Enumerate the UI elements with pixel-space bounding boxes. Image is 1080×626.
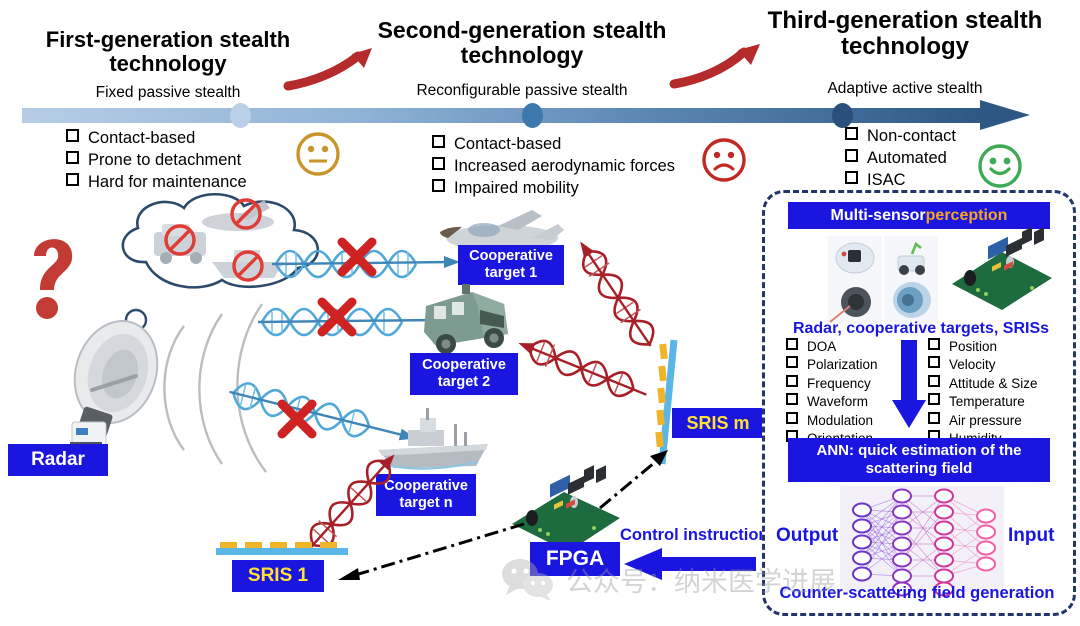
list-item: Contact-based xyxy=(432,134,675,156)
generation-subtitle-3: Adaptive active stealth xyxy=(740,80,1070,98)
checkbox-icon xyxy=(66,173,79,186)
list-item: Contact-based xyxy=(66,128,247,150)
radar-dish-icon xyxy=(50,318,180,458)
timeline-node-1 xyxy=(230,103,251,128)
blocked-cross-1 xyxy=(336,236,378,278)
happy-face-icon xyxy=(976,142,1024,190)
list-item: Polarization xyxy=(786,356,878,374)
list-item: Prone to detachment xyxy=(66,150,247,172)
sad-face-icon xyxy=(700,136,748,184)
checkbox-icon xyxy=(786,412,798,424)
parameter-list-right: Position Velocity Attitude & Size Temper… xyxy=(928,338,1038,449)
generation-title-1: First-generation stealth technology xyxy=(18,28,318,76)
cooperative-target-1-label: Cooperative target 1 xyxy=(458,245,564,285)
checkbox-icon xyxy=(786,393,798,405)
checkbox-icon xyxy=(845,127,858,140)
list-item: Position xyxy=(928,338,1038,356)
list-item: Frequency xyxy=(786,375,878,393)
feature-text: Impaired mobility xyxy=(454,178,579,200)
generation-subtitle-1: Fixed passive stealth xyxy=(18,84,318,102)
progress-arrow-2 xyxy=(672,44,764,88)
generation-title-3: Third-generation stealth technology xyxy=(740,8,1070,60)
timeline-node-2 xyxy=(522,103,543,128)
checkbox-icon xyxy=(928,356,940,368)
list-item: Automated xyxy=(845,148,956,170)
checkbox-icon xyxy=(432,179,445,192)
feature-text: ISAC xyxy=(867,170,906,192)
fpga-to-sris-m-arrow xyxy=(594,448,674,514)
list-item: Impaired mobility xyxy=(432,178,675,200)
feature-list-3: Non-contact Automated ISAC xyxy=(845,126,956,191)
parameter-text: Velocity xyxy=(949,356,996,374)
list-item: Modulation xyxy=(786,412,878,430)
feature-text: Automated xyxy=(867,148,947,170)
ann-title: ANN: quick estimation of the scattering … xyxy=(788,438,1050,482)
list-item: Temperature xyxy=(928,393,1038,411)
multi-sensor-perception-title: Multi-sensor perception xyxy=(788,202,1050,229)
sris-1-surface xyxy=(216,548,348,555)
radar-label: Radar xyxy=(8,444,108,476)
perception-title-main: Multi-sensor xyxy=(831,206,926,225)
sris-patch xyxy=(245,542,262,548)
parameter-text: Position xyxy=(949,338,997,356)
feature-list-1: Contact-based Prone to detachment Hard f… xyxy=(66,128,247,193)
list-item: Attitude & Size xyxy=(928,375,1038,393)
feature-list-2: Contact-based Increased aerodynamic forc… xyxy=(432,134,675,199)
parameter-text: Attitude & Size xyxy=(949,375,1038,393)
checkbox-icon xyxy=(432,157,445,170)
network-input-label: Input xyxy=(1008,525,1054,547)
parameter-text: Polarization xyxy=(807,356,878,374)
checkbox-icon xyxy=(845,149,858,162)
feature-text: Contact-based xyxy=(88,128,195,150)
checkbox-icon xyxy=(786,356,798,368)
perception-title-accent: perception xyxy=(926,206,1008,225)
control-instruction-label: Control instruction xyxy=(620,526,768,545)
generation-title-2: Second-generation stealth technology xyxy=(352,18,692,68)
parameter-text: Frequency xyxy=(807,375,871,393)
question-mark-icon xyxy=(22,228,82,328)
parameter-text: Waveform xyxy=(807,393,868,411)
list-item: Waveform xyxy=(786,393,878,411)
sris-m-label: SRIS m xyxy=(672,408,764,438)
list-item: Air pressure xyxy=(928,412,1038,430)
military-vehicle-icon xyxy=(412,280,522,360)
wechat-icon xyxy=(500,557,556,601)
sris-patch xyxy=(220,542,237,548)
feature-text: Increased aerodynamic forces xyxy=(454,156,675,178)
perception-pcb-icon xyxy=(948,240,1056,316)
sris-1-label: SRIS 1 xyxy=(232,560,324,592)
checkbox-icon xyxy=(786,375,798,387)
list-item: Non-contact xyxy=(845,126,956,148)
checkbox-icon xyxy=(432,135,445,148)
list-item: Velocity xyxy=(928,356,1038,374)
neutral-face-icon xyxy=(294,130,342,178)
checkbox-icon xyxy=(928,412,940,424)
feature-text: Non-contact xyxy=(867,126,956,148)
sris-patch xyxy=(295,542,312,548)
parameter-list-left: DOA Polarization Frequency Waveform Modu… xyxy=(786,338,878,449)
parameter-text: Air pressure xyxy=(949,412,1022,430)
timeline-axis xyxy=(22,104,1030,126)
timeline-node-3 xyxy=(832,103,853,128)
perception-sources-heading: Radar, cooperative targets, SRISs xyxy=(776,320,1066,338)
progress-arrow-1 xyxy=(286,48,378,90)
parameter-text: DOA xyxy=(807,338,836,356)
feature-text: Contact-based xyxy=(454,134,561,156)
flow-down-arrow xyxy=(892,340,926,428)
list-item: DOA xyxy=(786,338,878,356)
blocked-cross-2 xyxy=(316,296,358,338)
feature-text: Prone to detachment xyxy=(88,150,241,172)
list-item: ISAC xyxy=(845,170,956,192)
checkbox-icon xyxy=(66,129,79,142)
network-output-label: Output xyxy=(776,525,838,547)
checkbox-icon xyxy=(66,151,79,164)
cooperative-target-2-label: Cooperative target 2 xyxy=(410,353,518,395)
parameter-text: Temperature xyxy=(949,393,1025,411)
checkbox-icon xyxy=(928,393,940,405)
timeline-arrowhead xyxy=(980,100,1030,130)
watermark-text: 公众号：纳米医学进展 xyxy=(566,560,836,599)
checkbox-icon xyxy=(928,375,940,387)
checkbox-icon xyxy=(786,338,798,350)
blocked-cross-3 xyxy=(276,398,318,440)
generation-subtitle-2: Reconfigurable passive stealth xyxy=(342,82,702,100)
checkbox-icon xyxy=(928,338,940,350)
list-item: Increased aerodynamic forces xyxy=(432,156,675,178)
wechat-watermark: 公众号：纳米医学进展 xyxy=(500,548,920,610)
checkbox-icon xyxy=(845,171,858,184)
parameter-text: Modulation xyxy=(807,412,873,430)
sris-patch xyxy=(270,542,287,548)
sensor-icons-cluster xyxy=(828,236,940,324)
